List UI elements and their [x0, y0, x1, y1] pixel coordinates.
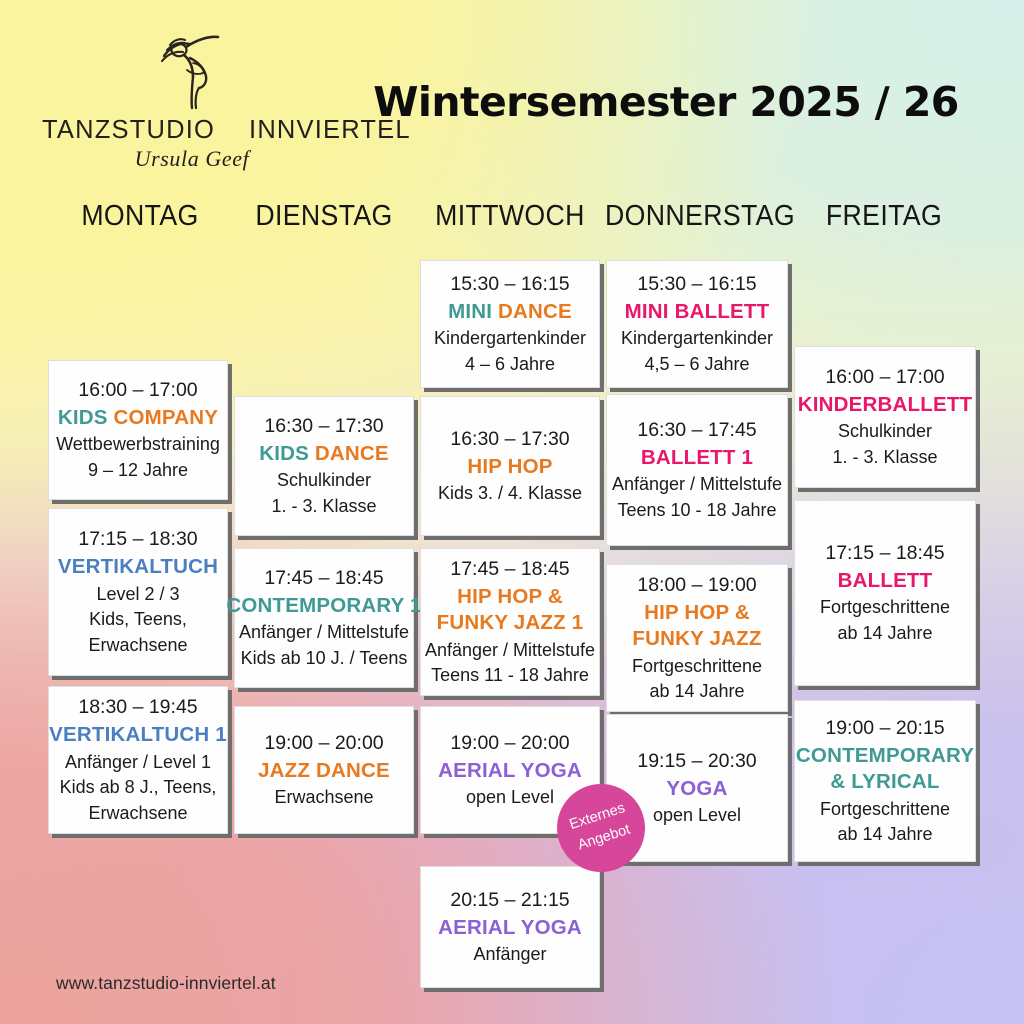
class-card[interactable]: 17:45 – 18:45 HIP HOP & FUNKY JAZZ 1 Anf… [420, 548, 600, 696]
class-title-part1: BALLETT 1 [641, 446, 753, 469]
class-title: HIP HOP & [644, 600, 750, 626]
class-desc-line: Teens 10 - 18 Jahre [617, 499, 776, 523]
class-title-part1: VERTIKALTUCH [58, 555, 218, 578]
class-desc-line: Anfänger / Mittelstufe [612, 473, 782, 497]
class-title-part2: DANCE [315, 442, 389, 465]
class-card[interactable]: 19:00 – 20:15 CONTEMPORARY & LYRICAL For… [794, 700, 976, 862]
day-header-dienstag: DIENSTAG [232, 200, 416, 233]
class-title: VERTIKALTUCH 1 [49, 722, 227, 748]
class-title: BALLETT 1 [641, 445, 753, 471]
class-title: YOGA [666, 776, 727, 802]
class-desc-line: Kindergartenkinder [621, 327, 773, 351]
class-title-part1: MINI BALLETT [625, 300, 770, 323]
class-title-second-line: FUNKY JAZZ 1 [437, 610, 584, 636]
class-title-part2: FUNKY JAZZ [632, 627, 761, 650]
class-title-part1: VERTIKALTUCH 1 [49, 723, 227, 746]
class-title-part1: JAZZ DANCE [258, 759, 390, 782]
class-desc-line: Erwachsene [88, 634, 187, 658]
class-card[interactable]: 16:30 – 17:30 KIDS DANCE Schulkinder 1. … [234, 396, 414, 536]
class-time: 16:00 – 17:00 [825, 364, 944, 390]
class-time: 19:00 – 20:00 [264, 730, 383, 756]
day-header-donnerstag: DONNERSTAG [601, 200, 800, 233]
class-desc-line: open Level [466, 786, 554, 810]
class-title: HIP HOP & [457, 584, 563, 610]
class-card[interactable]: 15:30 – 16:15 MINI DANCE Kindergartenkin… [420, 260, 600, 388]
class-card[interactable]: 18:00 – 19:00 HIP HOP & FUNKY JAZZ Fortg… [606, 564, 788, 712]
class-card[interactable]: 16:30 – 17:45 BALLETT 1 Anfänger / Mitte… [606, 394, 788, 546]
day-header-montag: MONTAG [48, 200, 232, 233]
day-header-mittwoch: MITTWOCH [418, 200, 602, 233]
class-title-part1: CONTEMPORARY 1 [226, 594, 421, 617]
class-title: KINDERBALLETT [798, 392, 973, 418]
class-title-part1: AERIAL YOGA [438, 916, 582, 939]
class-time: 15:30 – 16:15 [450, 271, 569, 297]
logo-wordmark: TANZSTUDIOINNVIERTEL [42, 116, 342, 145]
class-desc-line: Wettbewerbstraining [56, 433, 220, 457]
class-time: 15:30 – 16:15 [637, 271, 756, 297]
class-title: VERTIKALTUCH [58, 554, 218, 580]
class-time: 20:15 – 21:15 [450, 887, 569, 913]
class-desc-line: Anfänger / Mittelstufe [425, 639, 595, 663]
class-desc-line: Fortgeschrittene [820, 798, 950, 822]
studio-logo: TANZSTUDIOINNVIERTEL Ursula Geef [42, 28, 342, 163]
class-desc-line: ab 14 Jahre [649, 680, 744, 704]
class-desc-line: Anfänger / Level 1 [65, 751, 211, 775]
class-desc-line: Teens 11 - 18 Jahre [431, 664, 589, 688]
class-desc-line: ab 14 Jahre [837, 823, 932, 847]
class-time: 18:30 – 19:45 [78, 694, 197, 720]
class-card[interactable]: 16:30 – 17:30 HIP HOP Kids 3. / 4. Klass… [420, 396, 600, 536]
class-desc-line: ab 14 Jahre [837, 622, 932, 646]
class-time: 19:15 – 20:30 [637, 748, 756, 774]
class-title-part2: FUNKY JAZZ 1 [437, 611, 584, 634]
class-desc-line: 1. - 3. Klasse [271, 495, 376, 519]
class-title-part1: KIDS [259, 442, 315, 465]
class-time: 19:00 – 20:15 [825, 715, 944, 741]
class-desc-line: Erwachsene [274, 786, 373, 810]
class-desc-line: Anfänger / Mittelstufe [239, 621, 409, 645]
class-title-part1: KINDERBALLETT [798, 393, 973, 416]
class-title: AERIAL YOGA [438, 915, 582, 941]
class-desc-line: Kids ab 8 J., Teens, [60, 776, 217, 800]
class-time: 17:15 – 18:30 [78, 526, 197, 552]
class-title: KIDS COMPANY [58, 405, 218, 431]
class-card[interactable]: 17:45 – 18:45 CONTEMPORARY 1 Anfänger / … [234, 548, 414, 688]
class-title: CONTEMPORARY 1 [226, 593, 421, 619]
logo-word-left: TANZSTUDIO [42, 116, 215, 144]
class-desc-line: Level 2 / 3 [96, 583, 179, 607]
page-title: Wintersemester 2025 / 26 [366, 78, 966, 126]
class-card[interactable]: 16:00 – 17:00 KINDERBALLETT Schulkinder … [794, 346, 976, 488]
class-desc-line: 4,5 – 6 Jahre [644, 353, 749, 377]
class-title-part1: MINI [448, 300, 498, 323]
class-desc-line: Kids, Teens, [89, 608, 187, 632]
class-card[interactable]: 20:15 – 21:15 AERIAL YOGA Anfänger [420, 866, 600, 988]
class-desc-line: Schulkinder [838, 420, 932, 444]
class-title-second-line: & LYRICAL [830, 769, 939, 795]
class-time: 19:00 – 20:00 [450, 730, 569, 756]
class-card[interactable]: 18:30 – 19:45 VERTIKALTUCH 1 Anfänger / … [48, 686, 228, 834]
class-title: JAZZ DANCE [258, 758, 390, 784]
class-title-part2: COMPANY [114, 406, 219, 429]
class-title-second-line: FUNKY JAZZ [632, 626, 761, 652]
class-title-part2: & LYRICAL [830, 770, 939, 793]
class-desc-line: Fortgeschrittene [632, 655, 762, 679]
class-title-part1: AERIAL YOGA [438, 759, 582, 782]
class-desc-line: Schulkinder [277, 469, 371, 493]
class-title-part1: HIP HOP & [457, 585, 563, 608]
class-title-part1: BALLETT [838, 569, 933, 592]
dancer-silhouette-icon [146, 30, 232, 114]
class-title-part1: HIP HOP [467, 455, 552, 478]
class-desc-line: 9 – 12 Jahre [88, 459, 188, 483]
class-card[interactable]: 19:00 – 20:00 JAZZ DANCE Erwachsene [234, 706, 414, 834]
class-desc-line: Kids 3. / 4. Klasse [438, 482, 582, 506]
class-desc-line: Kindergartenkinder [434, 327, 586, 351]
class-desc-line: Fortgeschrittene [820, 596, 950, 620]
class-time: 16:30 – 17:30 [264, 413, 383, 439]
class-title: BALLETT [838, 568, 933, 594]
class-time: 17:15 – 18:45 [825, 540, 944, 566]
class-card[interactable]: 16:00 – 17:00 KIDS COMPANY Wettbewerbstr… [48, 360, 228, 500]
class-desc-line: Kids ab 10 J. / Teens [241, 647, 408, 671]
class-title: MINI BALLETT [625, 299, 770, 325]
class-desc-line: Erwachsene [88, 802, 187, 826]
class-time: 18:00 – 19:00 [637, 572, 756, 598]
class-time: 17:45 – 18:45 [264, 565, 383, 591]
class-title-part1: KIDS [58, 406, 114, 429]
class-time: 17:45 – 18:45 [450, 556, 569, 582]
class-card[interactable]: 17:15 – 18:45 BALLETT Fortgeschrittene a… [794, 500, 976, 686]
class-title-part2: DANCE [498, 300, 572, 323]
class-card[interactable]: 15:30 – 16:15 MINI BALLETT Kindergartenk… [606, 260, 788, 388]
class-title: CONTEMPORARY [796, 743, 974, 769]
day-header-freitag: FREITAG [792, 200, 976, 233]
class-title: AERIAL YOGA [438, 758, 582, 784]
class-time: 16:30 – 17:45 [637, 417, 756, 443]
class-title-part1: HIP HOP & [644, 601, 750, 624]
class-title: HIP HOP [467, 454, 552, 480]
class-card[interactable]: 17:15 – 18:30 VERTIKALTUCH Level 2 / 3 K… [48, 508, 228, 676]
class-time: 16:00 – 17:00 [78, 377, 197, 403]
logo-owner-name: Ursula Geef [42, 146, 342, 172]
website-url: www.tanzstudio-innviertel.at [56, 973, 276, 994]
class-desc-line: Anfänger [473, 943, 546, 967]
class-desc-line: open Level [653, 804, 741, 828]
class-desc-line: 4 – 6 Jahre [465, 353, 555, 377]
class-desc-line: 1. - 3. Klasse [832, 446, 937, 470]
class-title-part1: YOGA [666, 777, 727, 800]
class-title: MINI DANCE [448, 299, 572, 325]
class-time: 16:30 – 17:30 [450, 426, 569, 452]
class-title: KIDS DANCE [259, 441, 389, 467]
class-title-part1: CONTEMPORARY [796, 744, 974, 767]
